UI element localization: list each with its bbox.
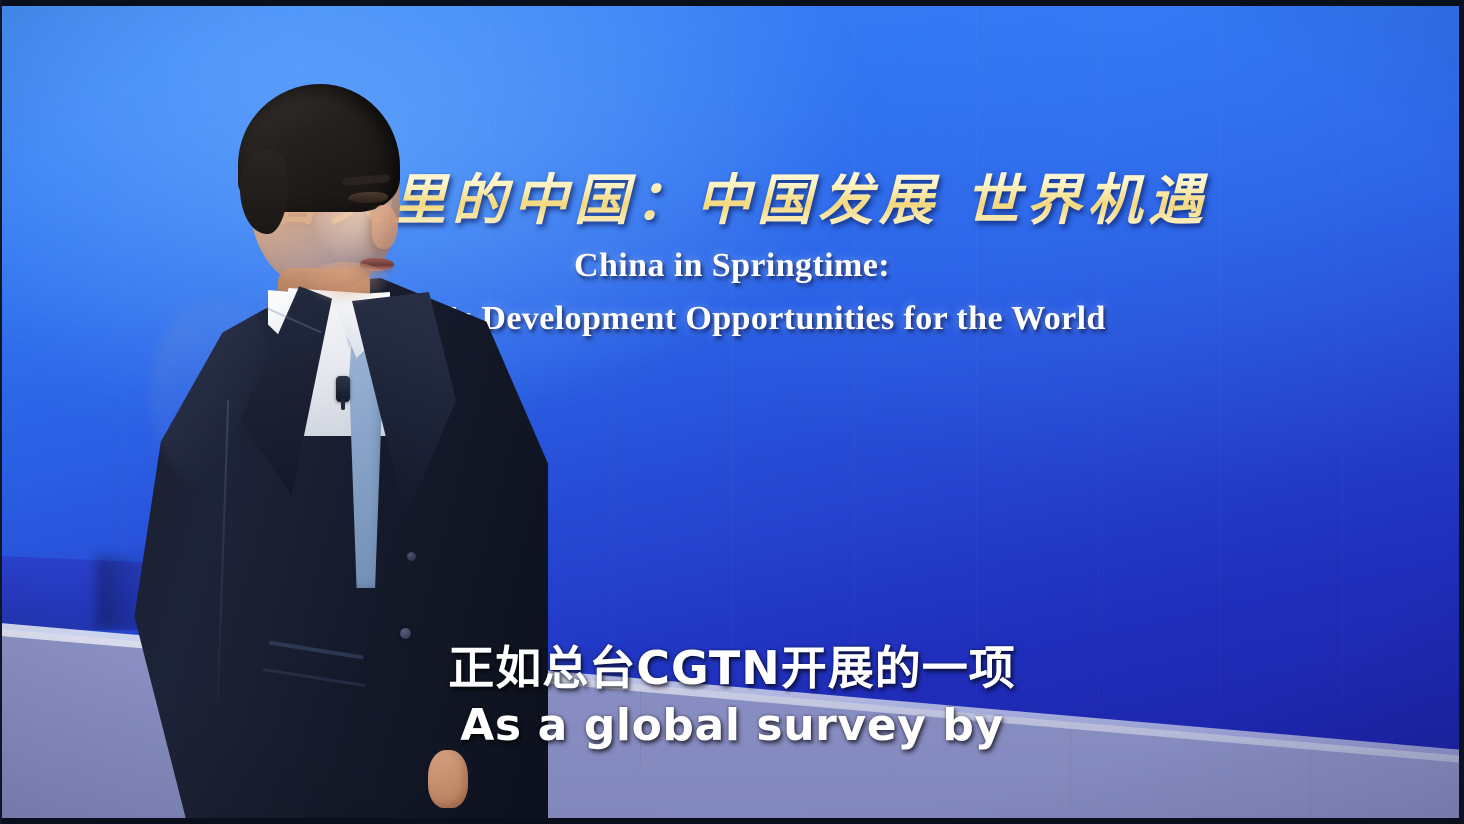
letterbox-bar-left: [0, 0, 2, 824]
letterbox-bar-top: [0, 0, 1464, 6]
letterbox-bar-right: [1459, 0, 1464, 824]
frame-vignette: [0, 0, 1464, 824]
letterbox-bar-bottom: [0, 818, 1464, 824]
video-frame: 春天里的中国：中国发展 世界机遇 China in Springtime: Ch…: [0, 0, 1464, 824]
